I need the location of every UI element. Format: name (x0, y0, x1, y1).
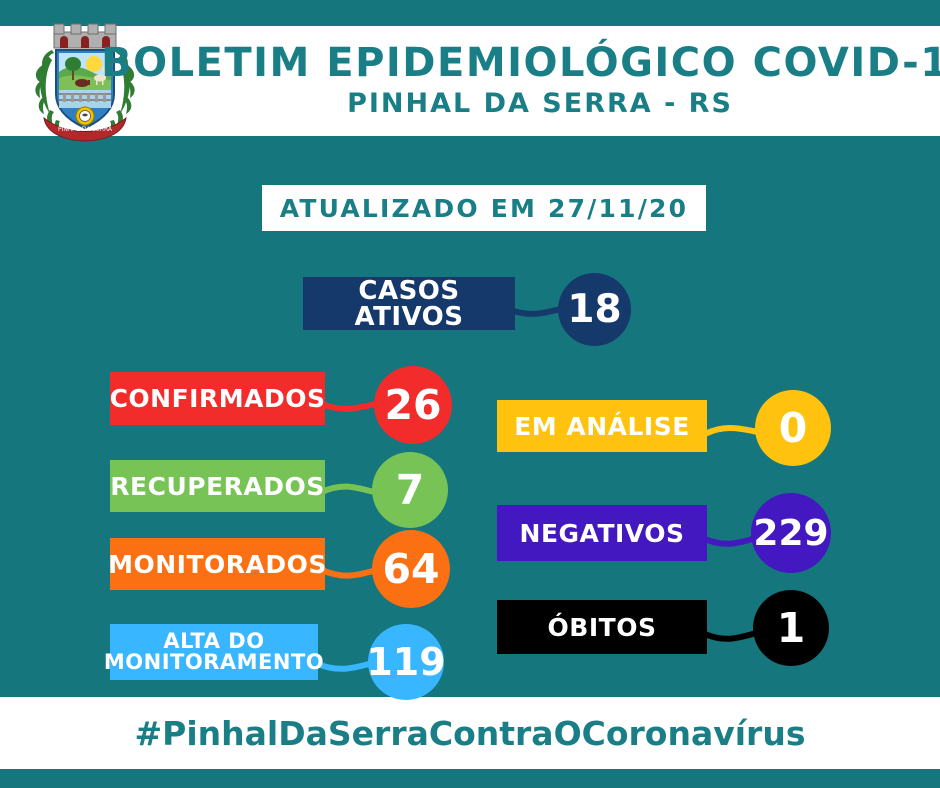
stat-recuperados: RECUPERADOS 7 (110, 460, 480, 532)
stat-label-em-analise: Em análise (514, 414, 690, 439)
stat-confirmados: CONFIRMADOS 26 (110, 372, 480, 444)
stat-label-obitos: ÓBITOS (548, 615, 657, 640)
header-text-block: BOLETIM EPIDEMIOLÓGICO COVID-19 PINHAL D… (150, 26, 930, 136)
stat-label-alta-monitoramento-line2: monitoramento (104, 652, 324, 673)
stat-value-bubble-em-analise: 0 (755, 390, 831, 466)
footer-hashtag: #PinhalDaSerraContraOCoronavírus (135, 714, 806, 753)
footer-white-panel: #PinhalDaSerraContraOCoronavírus (0, 697, 940, 769)
stat-value-bubble-alta-monitoramento: 119 (368, 624, 444, 700)
stat-label-pill-obitos: ÓBITOS (497, 600, 707, 654)
stat-value-casos-ativos: 18 (567, 287, 621, 332)
stat-label-confirmados: CONFIRMADOS (110, 386, 326, 411)
stat-label-pill-casos-ativos: CASOS ATIVOS (303, 277, 515, 330)
stat-label-pill-em-analise: Em análise (497, 400, 707, 452)
stat-negativos: NEGATIVOS 229 (497, 505, 857, 577)
stat-casos-ativos: CASOS ATIVOS 18 (303, 277, 663, 347)
stat-label-pill-alta-monitoramento: Alta do monitoramento (110, 624, 318, 680)
footer-band (0, 769, 940, 788)
stat-value-obitos: 1 (777, 604, 806, 652)
stat-value-negativos: 229 (753, 513, 828, 554)
stat-value-bubble-obitos: 1 (753, 590, 829, 666)
stat-value-monitorados: 64 (382, 545, 439, 593)
stat-value-bubble-negativos: 229 (751, 493, 831, 573)
stat-alta-monitoramento: Alta do monitoramento 119 (110, 624, 480, 696)
stat-value-bubble-monitorados: 64 (372, 530, 450, 608)
stat-label-alta-monitoramento-line1: Alta do (163, 631, 264, 652)
page-title: BOLETIM EPIDEMIOLÓGICO COVID-19 (101, 43, 940, 84)
stat-value-confirmados: 26 (384, 381, 441, 429)
stat-label-pill-confirmados: CONFIRMADOS (110, 372, 325, 425)
update-date-banner: ATUALIZADO EM 27/11/20 (262, 185, 706, 231)
stat-value-alta-monitoramento: 119 (366, 640, 445, 684)
stat-obitos: ÓBITOS 1 (497, 600, 857, 672)
stat-label-pill-recuperados: RECUPERADOS (110, 460, 325, 512)
stat-label-pill-negativos: NEGATIVOS (497, 505, 707, 561)
stat-value-bubble-recuperados: 7 (372, 452, 448, 528)
update-date-text: ATUALIZADO EM 27/11/20 (280, 194, 688, 223)
stat-label-pill-monitorados: MONITORADOS (110, 538, 325, 590)
stat-label-casos-ativos: CASOS ATIVOS (313, 278, 505, 330)
stat-label-negativos: NEGATIVOS (520, 521, 685, 546)
svg-text:PINHAL DA SERRA: PINHAL DA SERRA (58, 126, 113, 133)
page-subtitle: PINHAL DA SERRA - RS (347, 90, 733, 118)
stat-value-em-analise: 0 (779, 404, 808, 452)
stat-label-recuperados: RECUPERADOS (110, 474, 324, 499)
stat-label-monitorados: MONITORADOS (108, 552, 327, 577)
stat-monitorados: MONITORADOS 64 (110, 538, 480, 610)
stat-value-bubble-casos-ativos: 18 (558, 273, 631, 346)
stat-value-recuperados: 7 (396, 466, 425, 514)
stat-em-analise: Em análise 0 (497, 400, 857, 472)
stat-value-bubble-confirmados: 26 (374, 366, 452, 444)
